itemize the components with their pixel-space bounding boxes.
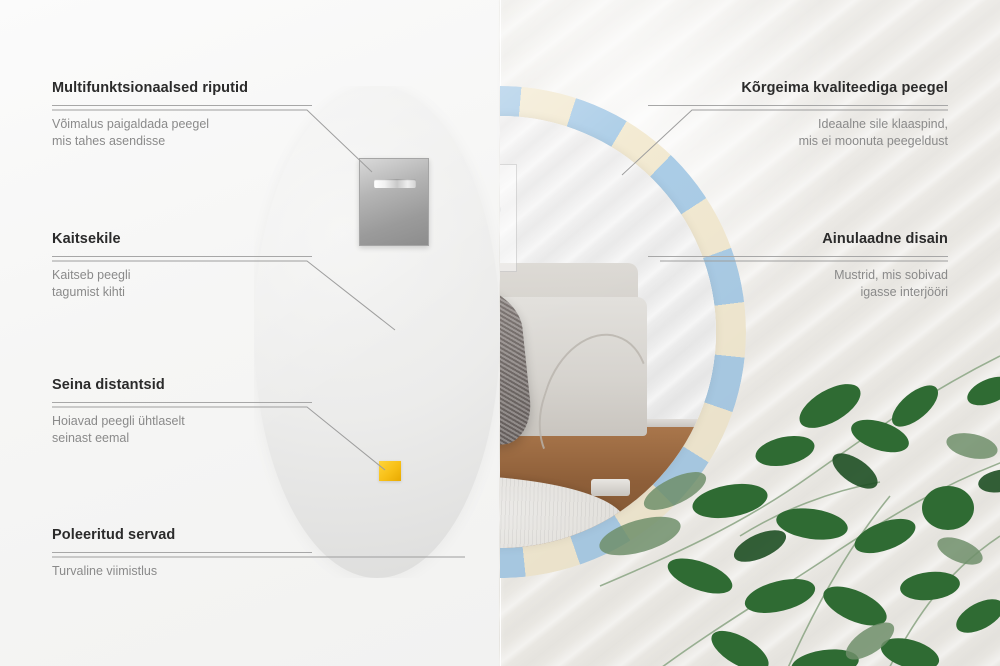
hanger-slot [374, 179, 416, 188]
callout-rule [648, 105, 948, 106]
callout-rule [52, 552, 312, 553]
reflected-line-art-picture [500, 164, 517, 272]
callout-title: Kaitsekile [52, 231, 312, 247]
callout-rule [648, 256, 948, 257]
wall-spacer-detail [379, 461, 401, 481]
callout-highest-quality-mirror: Kõrgeima kvaliteediga peegel Ideaalne si… [648, 80, 948, 150]
callout-title: Ainulaadne disain [648, 231, 948, 247]
callout-description: Turvaline viimistlus [52, 563, 312, 580]
callout-title: Kõrgeima kvaliteediga peegel [648, 80, 948, 96]
callout-polished-edges: Poleeritud servad Turvaline viimistlus [52, 527, 312, 580]
foliage-decoration [580, 286, 1000, 666]
callout-title: Seina distantsid [52, 377, 312, 393]
callout-wall-spacers: Seina distantsid Hoiavad peegli ühtlasel… [52, 377, 312, 447]
callout-description: Kaitseb peegli tagumist kihti [52, 267, 312, 301]
infographic-stage: Multifunktsionaalsed riputid Võimalus pa… [0, 0, 1000, 666]
callout-title: Multifunktsionaalsed riputid [52, 80, 312, 96]
callout-rule [52, 402, 312, 403]
callout-title: Poleeritud servad [52, 527, 312, 543]
callout-rule [52, 105, 312, 106]
callout-description: Võimalus paigaldada peegel mis tahes ase… [52, 116, 312, 150]
hanger-bracket-detail [359, 158, 429, 246]
callout-description: Hoiavad peegli ühtlaselt seinast eemal [52, 413, 312, 447]
callout-protective-film: Kaitsekile Kaitseb peegli tagumist kihti [52, 231, 312, 301]
callout-description: Ideaalne sile klaaspind, mis ei moonuta … [648, 116, 948, 150]
callout-rule [52, 256, 312, 257]
callout-multifunctional-hangers: Multifunktsionaalsed riputid Võimalus pa… [52, 80, 312, 150]
